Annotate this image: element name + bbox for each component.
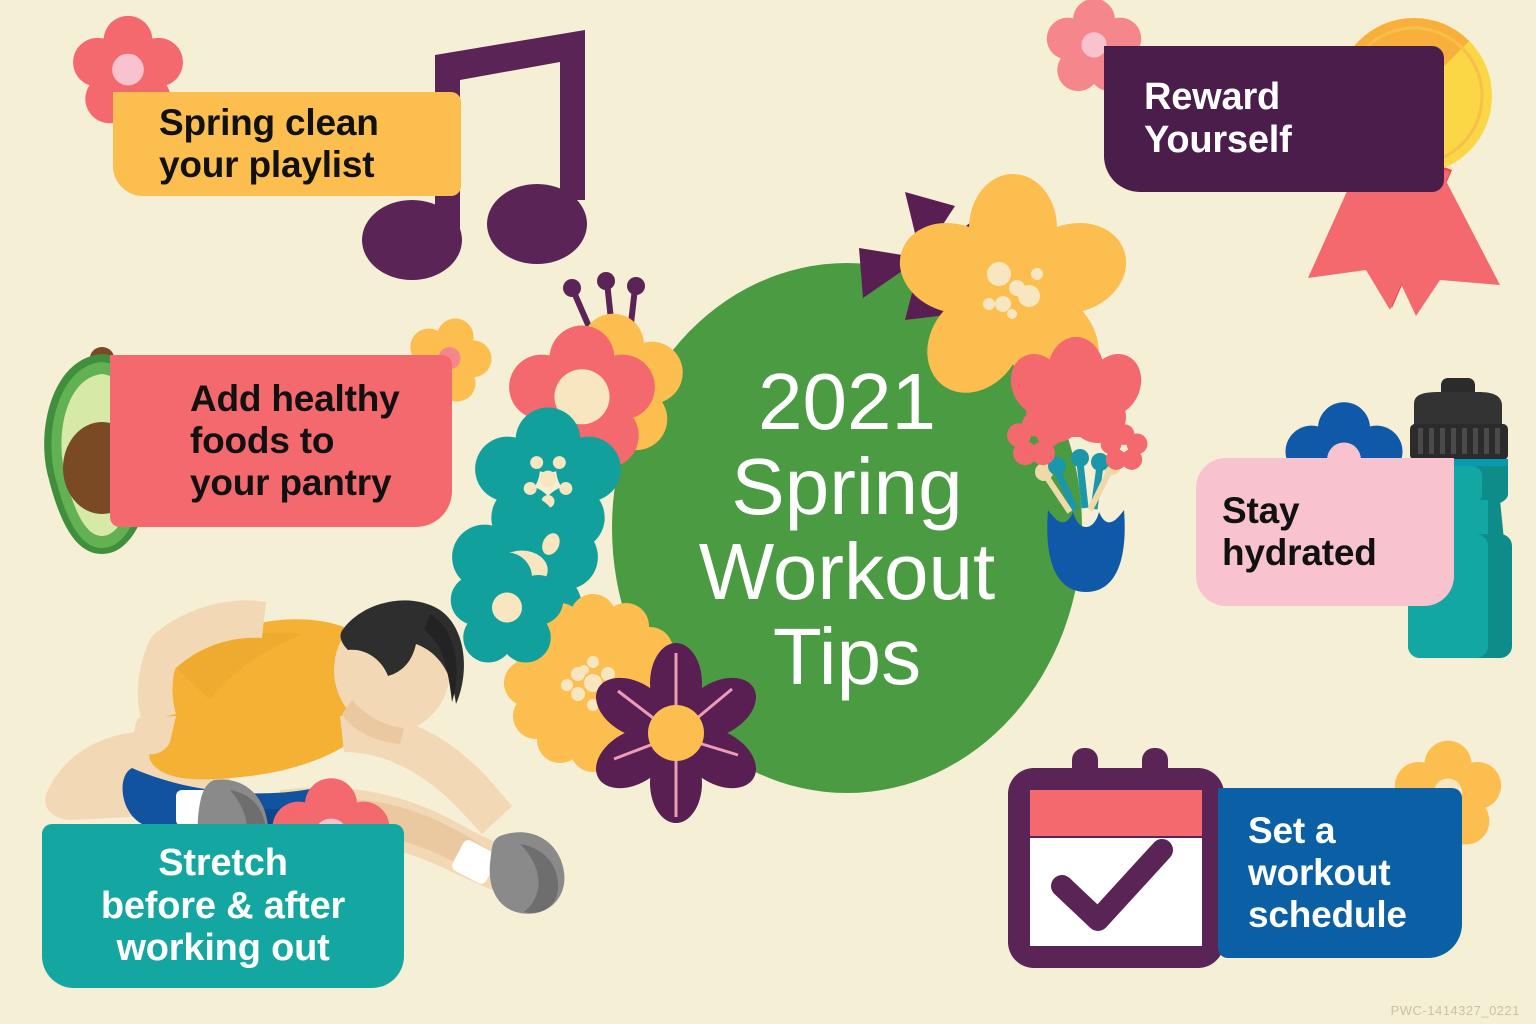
calendar-check-icon [1008,748,1224,968]
tip-label-playlist: Spring clean your playlist [159,102,461,186]
tip-card-reward[interactable]: Reward Yourself [1104,46,1444,192]
page-title: 2021 Spring Workout Tips [612,300,1082,760]
tip-card-pantry[interactable]: Add healthy foods to your pantry [110,355,452,527]
tip-label-stretch: Stretch before & after working out [42,842,404,971]
tip-label-hydrated: Stay hydrated [1222,490,1454,574]
tip-card-hydrated[interactable]: Stay hydrated [1196,458,1454,606]
infographic-canvas: Spring clean your playlist Reward Yourse… [0,0,1536,1024]
tip-label-reward: Reward Yourself [1144,76,1444,162]
tip-card-playlist[interactable]: Spring clean your playlist [113,92,461,196]
tip-label-schedule: Set a workout schedule [1248,810,1462,935]
footer-reference-code: PWC-1414327_0221 [1391,1003,1520,1018]
tip-card-schedule[interactable]: Set a workout schedule [1218,788,1462,958]
tip-card-stretch[interactable]: Stretch before & after working out [42,824,404,988]
tip-label-pantry: Add healthy foods to your pantry [190,378,452,503]
